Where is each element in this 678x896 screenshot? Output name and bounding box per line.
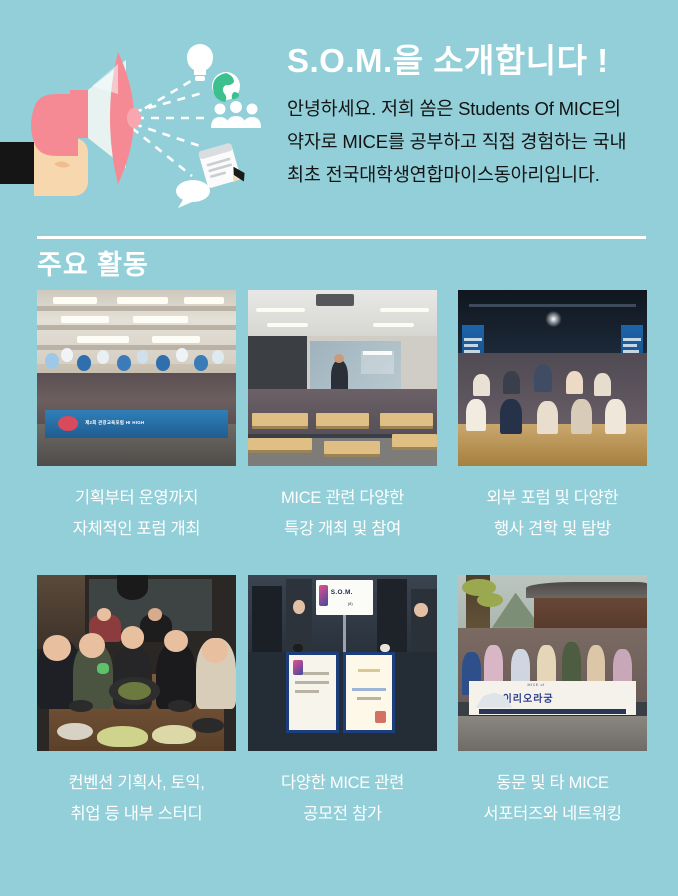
activity-card[interactable]: MICE of 이리오라궁 동문 및 타 MICE 서포터즈와 네트워킹	[458, 575, 647, 830]
hero-description: 안녕하세요. 저희 쏨은 Students Of MICE의 약자로 MICE를…	[287, 92, 659, 191]
activity-caption-line: 서포터즈와 네트워킹	[458, 799, 647, 830]
section-title: 주요 활동	[37, 243, 149, 282]
activity-caption-line: 취업 등 내부 스터디	[37, 799, 236, 830]
activity-card[interactable]: 컨벤션 기획사, 토익, 취업 등 내부 스터디	[37, 575, 236, 830]
photo-banner-subtitle: MICE of	[528, 683, 545, 687]
competition-award-photo[interactable]: S.O.M. (8)	[248, 575, 437, 751]
activity-card[interactable]: 제2회 관광교육포럼 HI HIGH 기획부터 운영까지 자체적인 포럼 개최	[37, 290, 236, 545]
activity-caption-line: 기획부터 운영까지	[37, 483, 236, 514]
activity-caption-line: 외부 포럼 및 다양한	[458, 483, 647, 514]
activity-caption-line: 자체적인 포럼 개최	[37, 514, 236, 545]
team-sign-subtitle: (8)	[348, 601, 353, 606]
team-sign-title: S.O.M.	[331, 589, 353, 596]
hero-section: S.O.M.을 소개합니다 ! 안녕하세요. 저희 쏨은 Students Of…	[0, 0, 678, 222]
networking-palace-photo[interactable]: MICE of 이리오라궁	[458, 575, 647, 751]
section-divider	[37, 236, 646, 239]
hero-description-line: 최초 전국대학생연합마이스동아리입니다.	[287, 158, 659, 191]
page-title: S.O.M.을 소개합니다 !	[287, 38, 659, 84]
lecture-room-photo[interactable]	[248, 290, 437, 466]
activity-caption: 컨벤션 기획사, 토익, 취업 등 내부 스터디	[37, 768, 236, 830]
activity-caption: MICE 관련 다양한 특강 개최 및 참여	[248, 483, 437, 545]
activities-row: 제2회 관광교육포럼 HI HIGH 기획부터 운영까지 자체적인 포럼 개최	[0, 290, 678, 575]
activity-caption-line: 행사 견학 및 탐방	[458, 514, 647, 545]
hero-description-line: 안녕하세요. 저희 쏨은 Students Of MICE의	[287, 92, 659, 125]
activity-caption-line: 특강 개최 및 참여	[248, 514, 437, 545]
activity-caption-line: 컨벤션 기획사, 토익,	[37, 768, 236, 799]
photo-banner-text: 이리오라궁	[503, 690, 554, 705]
activities-row: 컨벤션 기획사, 토익, 취업 등 내부 스터디	[0, 575, 678, 860]
activity-caption-line: MICE 관련 다양한	[248, 483, 437, 514]
hero-text-block: S.O.M.을 소개합니다 ! 안녕하세요. 저희 쏨은 Students Of…	[287, 38, 659, 191]
activity-card[interactable]: MICE 관련 다양한 특강 개최 및 참여	[248, 290, 437, 545]
photo-banner-text: 제2회 관광교육포럼 HI HIGH	[85, 420, 144, 426]
activity-caption-line: 다양한 MICE 관련	[248, 768, 437, 799]
activity-caption: 동문 및 타 MICE 서포터즈와 네트워킹	[458, 768, 647, 830]
activity-card[interactable]: 외부 포럼 및 다양한 행사 견학 및 탐방	[458, 290, 647, 545]
external-forum-photo[interactable]	[458, 290, 647, 466]
activity-caption: 기획부터 운영까지 자체적인 포럼 개최	[37, 483, 236, 545]
activity-caption-line: 공모전 참가	[248, 799, 437, 830]
activity-caption-line: 동문 및 타 MICE	[458, 768, 647, 799]
study-dinner-photo[interactable]	[37, 575, 236, 751]
activity-caption: 외부 포럼 및 다양한 행사 견학 및 탐방	[458, 483, 647, 545]
poster-page: S.O.M.을 소개합니다 ! 안녕하세요. 저희 쏨은 Students Of…	[0, 0, 678, 896]
hero-description-line: 약자로 MICE를 공부하고 직접 경험하는 국내	[287, 125, 659, 158]
megaphone-illustration	[0, 30, 272, 208]
forum-group-photo[interactable]: 제2회 관광교육포럼 HI HIGH	[37, 290, 236, 466]
activity-caption: 다양한 MICE 관련 공모전 참가	[248, 768, 437, 830]
activity-card[interactable]: S.O.M. (8)	[248, 575, 437, 830]
activities-grid: 제2회 관광교육포럼 HI HIGH 기획부터 운영까지 자체적인 포럼 개최	[0, 290, 678, 860]
